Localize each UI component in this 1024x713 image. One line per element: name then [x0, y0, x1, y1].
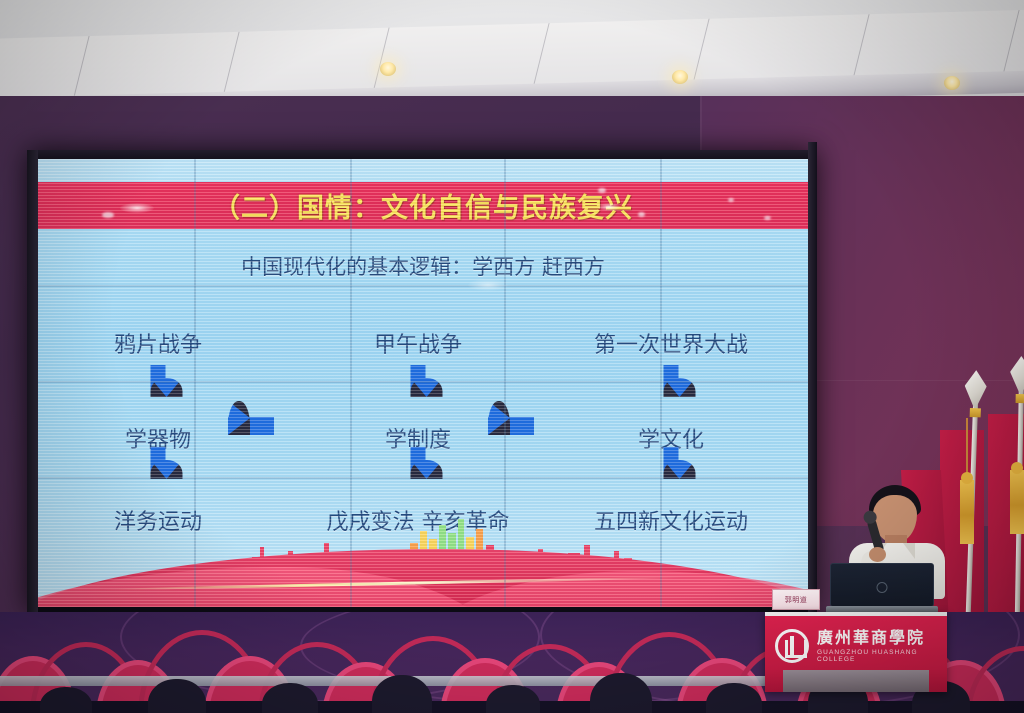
lecture-hall-photo: （二）国情：文化自信与民族复兴 中国现代化的基本逻辑：学西方 赶西方 鸦片战争 …	[0, 0, 1024, 713]
speaker-hand	[869, 547, 886, 562]
down-arrow-icon	[411, 447, 426, 479]
led-video-wall: （二）国情：文化自信与民族复兴 中国现代化的基本逻辑：学西方 赶西方 鸦片战争 …	[27, 150, 817, 612]
desk-nameplate: 郭明道	[772, 589, 820, 610]
panel-seam	[38, 381, 808, 383]
laptop-lid	[830, 563, 934, 607]
gold-tassel	[960, 480, 974, 544]
gold-tassel	[1010, 470, 1024, 534]
podium-name-en: GUANGZHOU HUASHANG COLLEGE	[817, 649, 937, 663]
slide-title: （二）国情：文化自信与民族复兴	[213, 186, 633, 225]
panel-seam	[660, 159, 662, 607]
screen-bezel-left	[27, 150, 38, 612]
right-arrow-icon	[488, 417, 534, 435]
down-arrow-icon	[151, 447, 166, 479]
cell-war-col2: 甲午战争	[374, 327, 462, 359]
ceiling-downlight	[944, 76, 960, 90]
screen-bezel-top	[27, 150, 817, 159]
speaker-collar	[903, 543, 915, 559]
panel-seam	[350, 159, 352, 607]
ceiling	[0, 0, 1024, 96]
slide-subtitle: 中国现代化的基本逻辑：学西方 赶西方	[38, 251, 808, 281]
school-crest-icon	[775, 629, 809, 663]
podium-name-cn: 廣州華商學院	[817, 629, 937, 647]
panel-seam	[38, 477, 808, 479]
slide-skyline-graphic	[38, 511, 808, 607]
panel-seam	[504, 159, 506, 607]
down-arrow-icon	[664, 447, 679, 479]
screen-bezel-right	[808, 142, 817, 612]
laptop-logo-icon	[877, 582, 888, 593]
laptop[interactable]	[826, 563, 938, 615]
presentation-slide: （二）国情：文化自信与民族复兴 中国现代化的基本逻辑：学西方 赶西方 鸦片战争 …	[38, 159, 808, 607]
podium-base	[783, 670, 929, 692]
panel-seam	[194, 159, 196, 607]
ceiling-downlight	[380, 62, 396, 76]
cell-war-col1: 鸦片战争	[114, 327, 202, 359]
right-arrow-icon	[228, 417, 274, 435]
panel-seam	[38, 285, 808, 287]
ceiling-downlight	[672, 70, 688, 84]
podium: 廣州華商學院 GUANGZHOU HUASHANG COLLEGE	[765, 612, 947, 692]
presentation-screen: （二）国情：文化自信与民族复兴 中国现代化的基本逻辑：学西方 赶西方 鸦片战争 …	[38, 159, 808, 607]
nameplate-text: 郭明道	[785, 595, 808, 605]
slide-title-band: （二）国情：文化自信与民族复兴	[38, 182, 808, 229]
cell-war-col3: 第一次世界大战	[594, 327, 748, 359]
tassel-cord	[966, 418, 968, 478]
